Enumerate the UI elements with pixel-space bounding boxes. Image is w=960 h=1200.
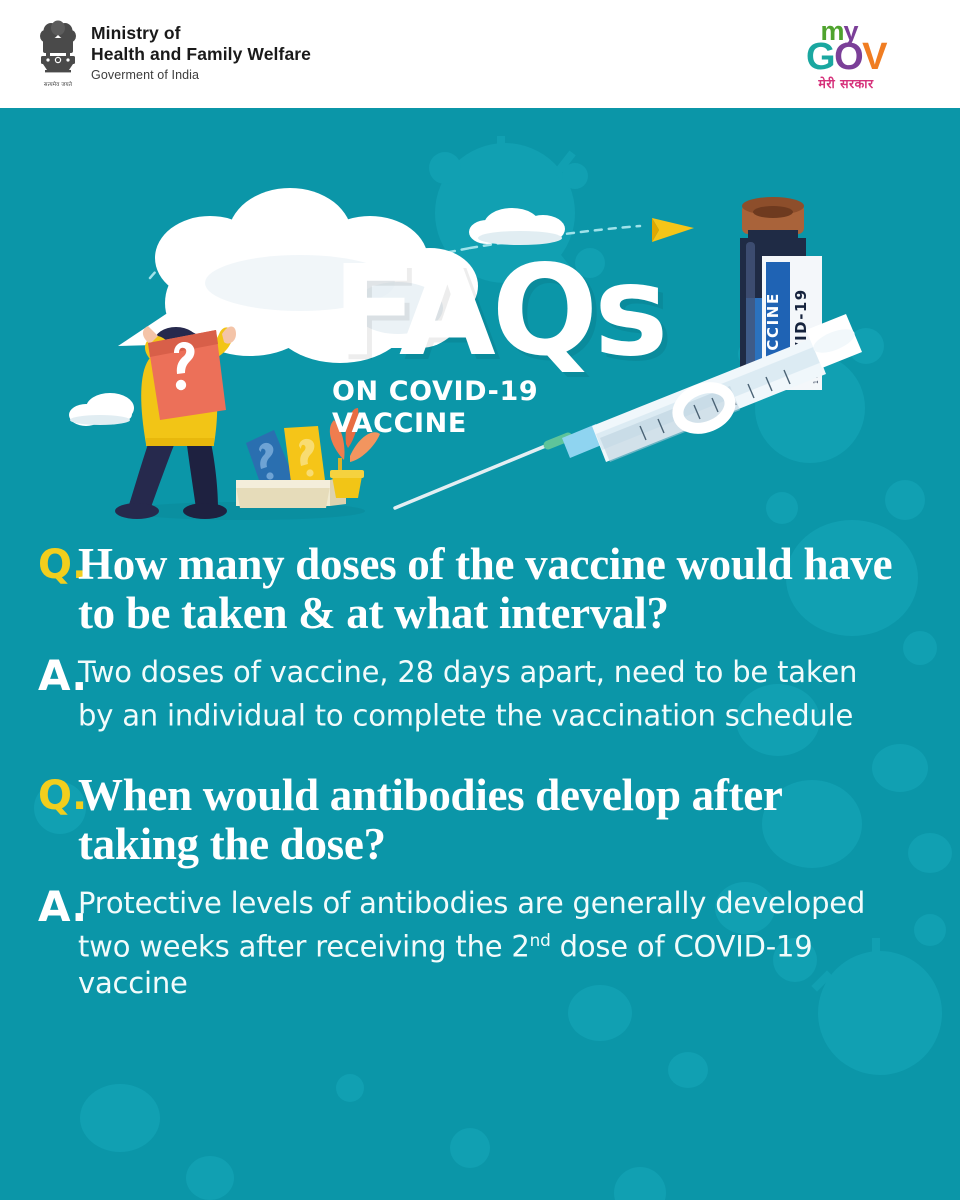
ministry-text: Ministry of Health and Family Welfare Go… (91, 20, 311, 84)
cloud-small-left (69, 393, 134, 426)
answer-row: A. Two doses of vaccine, 28 days apart, … (0, 654, 960, 735)
ministry-line-3: Goverment of India (91, 66, 311, 84)
answer-text-sup: nd (530, 930, 551, 950)
page-header: सत्यमेव जयते Ministry of Health and Fami… (0, 0, 960, 108)
answer-text: Protective levels of antibodies are gene… (78, 885, 960, 1003)
page-title: FAQs (332, 262, 664, 362)
title-block: FAQs ON COVID-19 VACCINE (332, 262, 664, 440)
question-marker: Q. (0, 771, 78, 821)
question-row: Q. When would antibodies develop after t… (0, 771, 960, 869)
question-marker: Q. (0, 540, 78, 590)
mygov-gov-text: GOV (782, 38, 910, 76)
faq-item: Q. When would antibodies develop after t… (0, 771, 960, 1003)
faq-item: Q. How many doses of the vaccine would h… (0, 540, 960, 735)
answer-marker: A. (0, 654, 78, 698)
answer-text-pre: Two doses of vaccine, 28 days apart, nee… (78, 655, 857, 733)
page-subtitle-line-2: VACCINE (332, 408, 664, 440)
crate (236, 476, 346, 508)
ministry-line-2: Health and Family Welfare (91, 44, 311, 65)
faq-list: Q. How many doses of the vaccine would h… (0, 540, 960, 1038)
question-text: How many doses of the vaccine would have… (78, 540, 960, 638)
ministry-line-1: Ministry of (91, 23, 311, 44)
mygov-letter-o: O (834, 36, 862, 78)
emblem-motto: सत्यमेव जयते (36, 80, 80, 88)
mygov-letter-v: V (862, 36, 886, 78)
question-box (148, 330, 226, 420)
answer-marker: A. (0, 885, 78, 929)
ashoka-emblem-icon: सत्यमेव जयते (36, 20, 80, 88)
page-subtitle: ON COVID-19 VACCINE (332, 376, 664, 440)
answer-row: A. Protective levels of antibodies are g… (0, 885, 960, 1003)
answer-text: Two doses of vaccine, 28 days apart, nee… (78, 654, 960, 735)
mygov-letter-g: G (806, 36, 834, 78)
question-row: Q. How many doses of the vaccine would h… (0, 540, 960, 638)
mygov-logo[interactable]: my GOV मेरी सरकार (782, 18, 910, 91)
mygov-hindi-tagline: मेरी सरकार (782, 78, 910, 91)
question-text: When would antibodies develop after taki… (78, 771, 960, 869)
ministry-logo-block: सत्यमेव जयते Ministry of Health and Fami… (36, 20, 311, 88)
faq-poster: सत्यमेव जयते Ministry of Health and Fami… (0, 0, 960, 1200)
